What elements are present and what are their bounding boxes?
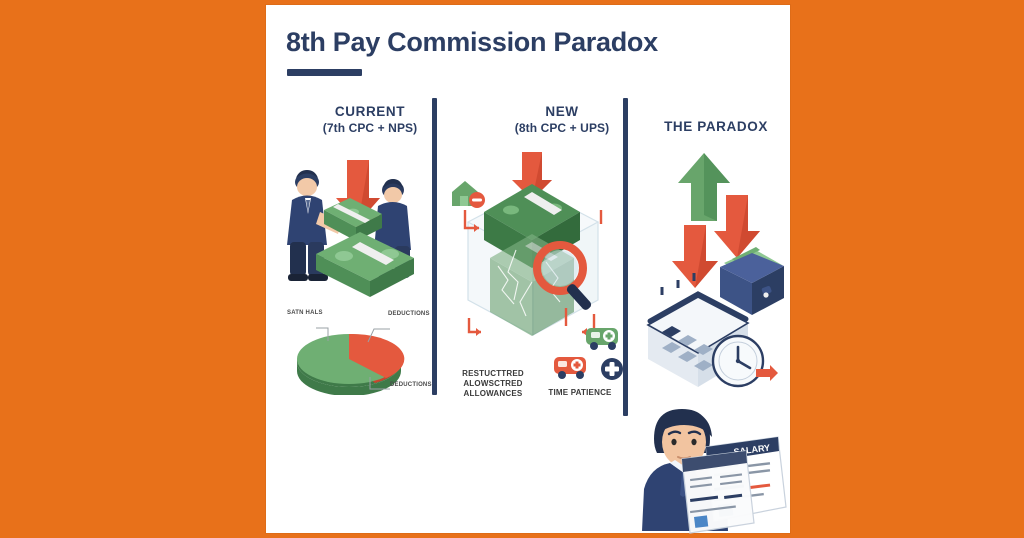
column-heading-current: CURRENT (7th CPC + NPS) bbox=[290, 104, 450, 136]
paradox-illustration bbox=[638, 145, 790, 390]
new-illustration bbox=[446, 150, 621, 360]
plus-badge-icon bbox=[600, 357, 624, 381]
pie-label-salary: SATN HALS bbox=[287, 310, 323, 316]
column-heading-new-subtitle: (8th CPC + UPS) bbox=[482, 120, 642, 136]
column-heading-new: NEW (8th CPC + UPS) bbox=[482, 104, 642, 136]
pie-label-deductions-bottom: DEDUCTIONS bbox=[390, 382, 432, 388]
label-line-2: ALOWSCTRED bbox=[448, 379, 538, 389]
column-heading-paradox: THE PARADOX bbox=[636, 119, 796, 135]
label-restructured-allowances: RESTUCTTRED ALOWSCTRED ALLOWANCES bbox=[448, 369, 538, 399]
clock-icon bbox=[713, 336, 778, 386]
column-heading-new-title: NEW bbox=[482, 104, 642, 120]
column-heading-paradox-title: THE PARADOX bbox=[636, 119, 796, 135]
red-van-icon bbox=[552, 353, 594, 381]
label-line-1: RESTUCTTRED bbox=[448, 369, 538, 379]
house-minus-icon bbox=[452, 181, 485, 208]
title-underline bbox=[287, 69, 362, 76]
green-up-arrow-icon bbox=[678, 153, 730, 221]
infographic-card: 8th Pay Commission Paradox CURRENT (7th … bbox=[266, 5, 790, 533]
column-heading-current-subtitle: (7th CPC + NPS) bbox=[290, 120, 450, 136]
infographic-stage: 8th Pay Commission Paradox CURRENT (7th … bbox=[0, 0, 1024, 538]
salary-review-illustration: SALARY bbox=[626, 395, 796, 535]
column-heading-current-title: CURRENT bbox=[290, 104, 450, 120]
page-title: 8th Pay Commission Paradox bbox=[286, 27, 658, 58]
pie-label-deductions-top: DEDUCTIONS bbox=[388, 311, 430, 317]
label-line-3: ALLOWANCES bbox=[448, 389, 538, 399]
wallet-cash-icon bbox=[720, 247, 784, 315]
current-illustration bbox=[274, 150, 439, 300]
green-van-icon bbox=[586, 328, 618, 350]
label-time-patience: TIME PATIENCE bbox=[532, 388, 628, 398]
